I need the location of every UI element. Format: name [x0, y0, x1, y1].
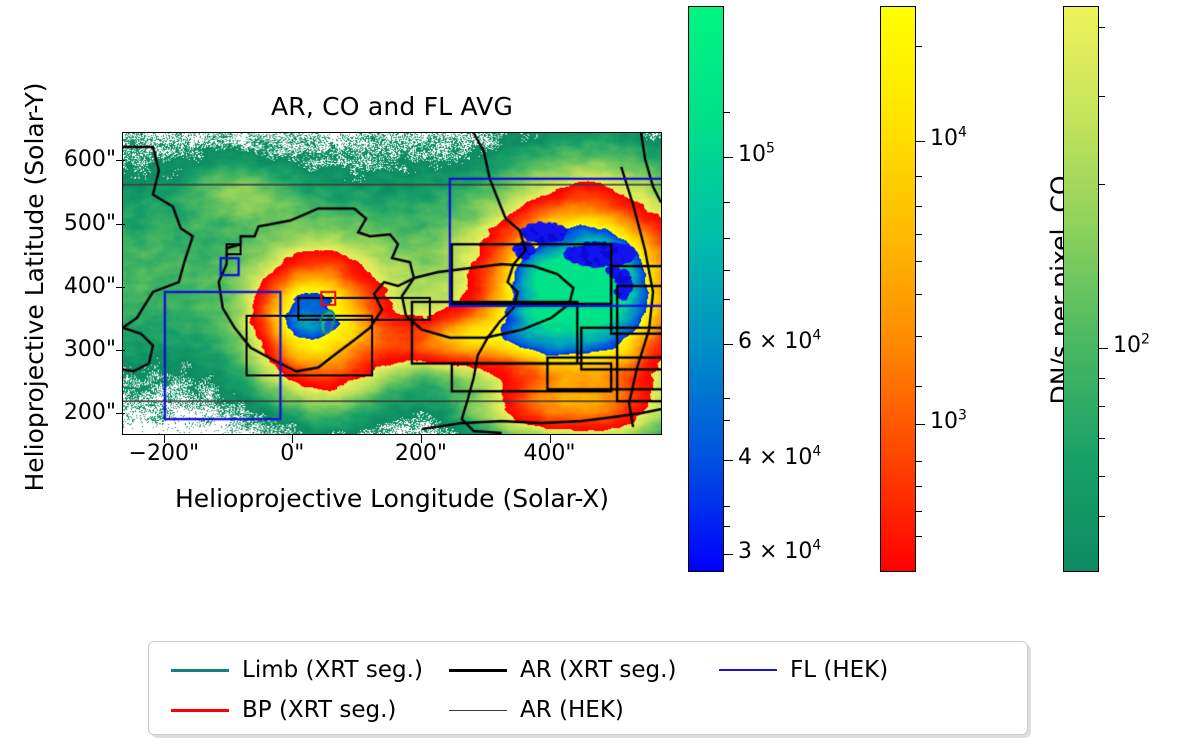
y-tick-mark — [116, 224, 125, 225]
colorbar-co-gradient — [880, 6, 916, 572]
colorbar-ar-tickmarks — [1099, 6, 1109, 572]
colorbar-minor-tick — [916, 234, 922, 235]
colorbar-fl-avg-gradient — [688, 6, 724, 572]
colorbar-minor-tick — [724, 299, 730, 300]
colorbar-minor-tick — [1099, 476, 1105, 477]
colorbar-tick-label: 104 — [930, 128, 967, 150]
colorbar-major-tick — [916, 141, 925, 142]
colorbar-ar-gradient — [1063, 6, 1099, 572]
colorbar-minor-tick — [1099, 406, 1105, 407]
x-tick-mark — [550, 434, 551, 443]
legend-line-swatch — [719, 669, 777, 671]
colorbar-major-tick — [724, 344, 733, 345]
colorbar-fl-avg-tickmarks — [724, 6, 734, 572]
y-tick-label: 200" — [46, 402, 116, 424]
y-tick-mark — [116, 287, 125, 288]
colorbar-major-tick — [916, 424, 925, 425]
legend-label: FL (HEK) — [790, 657, 888, 683]
colorbar-tick-label: 105 — [738, 144, 775, 166]
colorbar-minor-tick — [1099, 184, 1105, 185]
colorbar-tick-label: 3 × 104 — [738, 541, 821, 563]
colorbar-minor-tick — [724, 420, 730, 421]
colorbar-major-tick — [724, 157, 733, 158]
solar-map-figure: AR, CO and FL AVG 200"300"400"500"600" −… — [0, 0, 1200, 749]
x-tick-label: 0" — [232, 443, 352, 465]
y-axis-label: Helioprojective Latitude (Solar-Y) — [20, 47, 50, 527]
legend-line-swatch — [171, 669, 229, 672]
y-tick-label: 500" — [46, 213, 116, 235]
legend-item[interactable]: FL (HEK) — [719, 650, 888, 690]
legend-item[interactable]: BP (XRT seg.) — [171, 690, 396, 730]
colorbar-tick-label: 103 — [930, 411, 967, 433]
colorbar-minor-tick — [916, 46, 922, 47]
colorbar-minor-tick — [724, 238, 730, 239]
colorbar-minor-tick — [1099, 438, 1105, 439]
colorbar-major-tick — [724, 554, 733, 555]
colorbar-minor-tick — [916, 461, 922, 462]
x-tick-mark — [421, 434, 422, 443]
plot-title: AR, CO and FL AVG — [122, 92, 662, 122]
x-axis-label: Helioprojective Longitude (Solar-X) — [82, 484, 702, 514]
colorbar-minor-tick — [916, 294, 922, 295]
x-tick-mark — [164, 434, 165, 443]
legend-line-swatch — [449, 669, 507, 672]
colorbar-minor-tick — [916, 176, 922, 177]
y-axis-ticks: 200"300"400"500"600" — [40, 132, 116, 435]
colorbar-minor-tick — [916, 336, 922, 337]
y-tick-mark — [116, 413, 125, 414]
colorbar-minor-tick — [916, 206, 922, 207]
solar-intensity-map — [123, 133, 661, 434]
legend-line-swatch — [449, 710, 507, 711]
y-tick-label: 300" — [46, 339, 116, 361]
x-tick-label: 200" — [361, 443, 481, 465]
colorbar-minor-tick — [724, 526, 730, 527]
colorbar-ar-ticklabels: 102 — [1109, 6, 1200, 572]
colorbar-minor-tick — [1099, 96, 1105, 97]
legend-label: Limb (XRT seg.) — [242, 657, 423, 683]
x-tick-label: 400" — [490, 443, 610, 465]
legend-item[interactable]: AR (HEK) — [449, 690, 624, 730]
legend-item[interactable]: Limb (XRT seg.) — [171, 650, 423, 690]
y-tick-mark — [116, 350, 125, 351]
colorbar-minor-tick — [724, 270, 730, 271]
colorbar-minor-tick — [1099, 378, 1105, 379]
colorbar-tick-label: 4 × 104 — [738, 447, 821, 469]
colorbar-minor-tick — [1099, 27, 1105, 28]
legend-label: AR (XRT seg.) — [520, 657, 676, 683]
y-tick-mark — [116, 160, 125, 161]
colorbar-tick-label: 102 — [1113, 335, 1150, 357]
colorbar-co-tickmarks — [916, 6, 926, 572]
colorbar-minor-tick — [916, 386, 922, 387]
colorbar-minor-tick — [916, 261, 922, 262]
colorbar-minor-tick — [724, 506, 730, 507]
y-tick-label: 400" — [46, 276, 116, 298]
colorbar-co-ticklabels: 104103 — [926, 6, 1046, 572]
colorbar-minor-tick — [916, 486, 922, 487]
y-tick-label: 600" — [46, 149, 116, 171]
colorbar-minor-tick — [724, 112, 730, 113]
legend-label: BP (XRT seg.) — [242, 697, 396, 723]
x-tick-label: −200" — [104, 443, 224, 465]
colorbar-minor-tick — [724, 398, 730, 399]
map-axes[interactable] — [122, 132, 662, 435]
legend-line-swatch — [171, 709, 229, 712]
colorbar-minor-tick — [724, 202, 730, 203]
colorbar-fl-avg-ticklabels: 1056 × 1044 × 1043 × 104 — [734, 6, 854, 572]
x-axis-ticks: −200"0"200"400" — [122, 443, 662, 473]
colorbar-minor-tick — [916, 536, 922, 537]
x-tick-mark — [292, 434, 293, 443]
colorbar-major-tick — [724, 460, 733, 461]
colorbar-major-tick — [1099, 348, 1108, 349]
legend-item[interactable]: AR (XRT seg.) — [449, 650, 676, 690]
colorbar-minor-tick — [1099, 516, 1105, 517]
legend-label: AR (HEK) — [520, 697, 624, 723]
legend-box: Limb (XRT seg.)BP (XRT seg.)AR (XRT seg.… — [148, 641, 1028, 735]
colorbar-tick-label: 6 × 104 — [738, 331, 821, 353]
colorbar-minor-tick — [916, 511, 922, 512]
